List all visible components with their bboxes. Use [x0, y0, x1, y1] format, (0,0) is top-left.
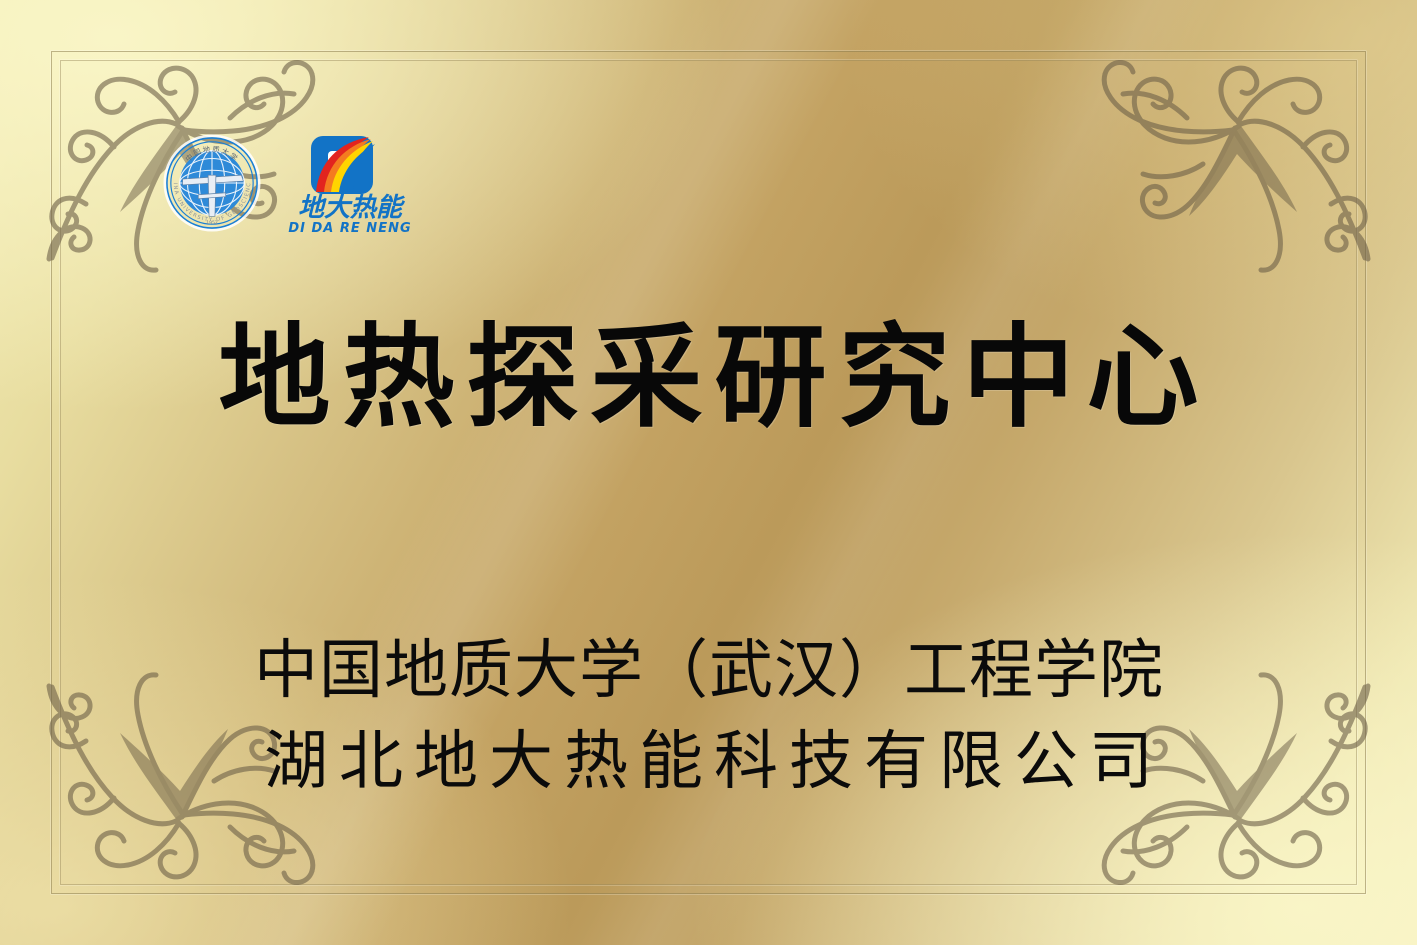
affiliation-line-2: 湖北地大热能科技有限公司: [0, 717, 1417, 808]
page-title: 地热探采研究中心: [0, 322, 1417, 434]
corner-ornament-top-right: [1071, 14, 1401, 274]
company-logo-mark: [311, 136, 375, 194]
logo-row: 中国地质大学 CHINA UNIVERSITY OF GEOSCIENCES 1…: [163, 134, 417, 236]
award-plaque: 中国地质大学 CHINA UNIVERSITY OF GEOSCIENCES 1…: [0, 0, 1417, 945]
university-logo: 中国地质大学 CHINA UNIVERSITY OF GEOSCIENCES 1…: [163, 134, 261, 232]
affiliation-line-1: 中国地质大学（武汉）工程学院: [0, 626, 1417, 717]
svg-text:1952: 1952: [206, 220, 218, 226]
company-wordmark-en: DI DA RE NENG: [288, 221, 411, 236]
company-logo: 地大热能 DI DA RE NENG: [283, 134, 417, 236]
affiliation-block: 中国地质大学（武汉）工程学院 湖北地大热能科技有限公司: [0, 626, 1417, 808]
company-wordmark-cn: 地大热能: [298, 193, 405, 223]
